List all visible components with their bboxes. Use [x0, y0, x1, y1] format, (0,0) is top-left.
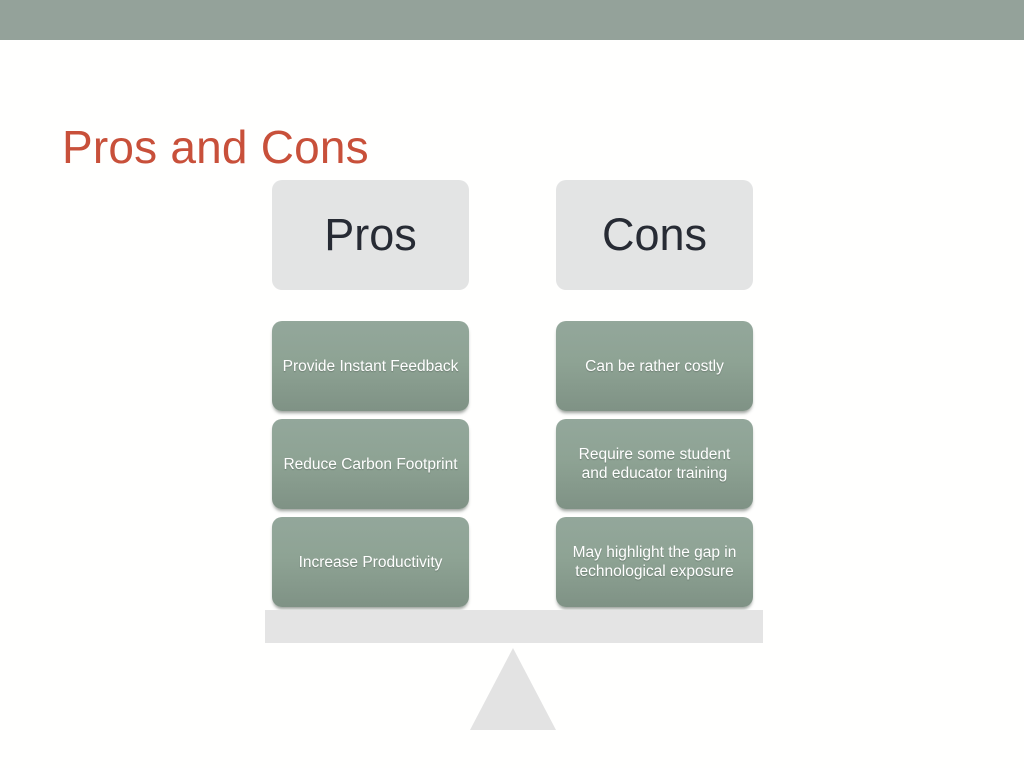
- balance-beam: [265, 610, 763, 643]
- cons-column: Cons Can be rather costly Require some s…: [556, 180, 753, 607]
- pros-item-card: Provide Instant Feedback: [272, 321, 469, 411]
- pros-item-card: Reduce Carbon Footprint: [272, 419, 469, 509]
- balance-fulcrum-triangle: [470, 648, 556, 730]
- cons-item-card: May highlight the gap in technological e…: [556, 517, 753, 607]
- pros-item-card: Increase Productivity: [272, 517, 469, 607]
- cons-item-card: Can be rather costly: [556, 321, 753, 411]
- pros-column-header: Pros: [272, 180, 469, 290]
- pros-cons-balance-diagram: Pros Provide Instant Feedback Reduce Car…: [0, 0, 1024, 768]
- cons-column-header: Cons: [556, 180, 753, 290]
- cons-item-card: Require some student and educator traini…: [556, 419, 753, 509]
- pros-column: Pros Provide Instant Feedback Reduce Car…: [272, 180, 469, 607]
